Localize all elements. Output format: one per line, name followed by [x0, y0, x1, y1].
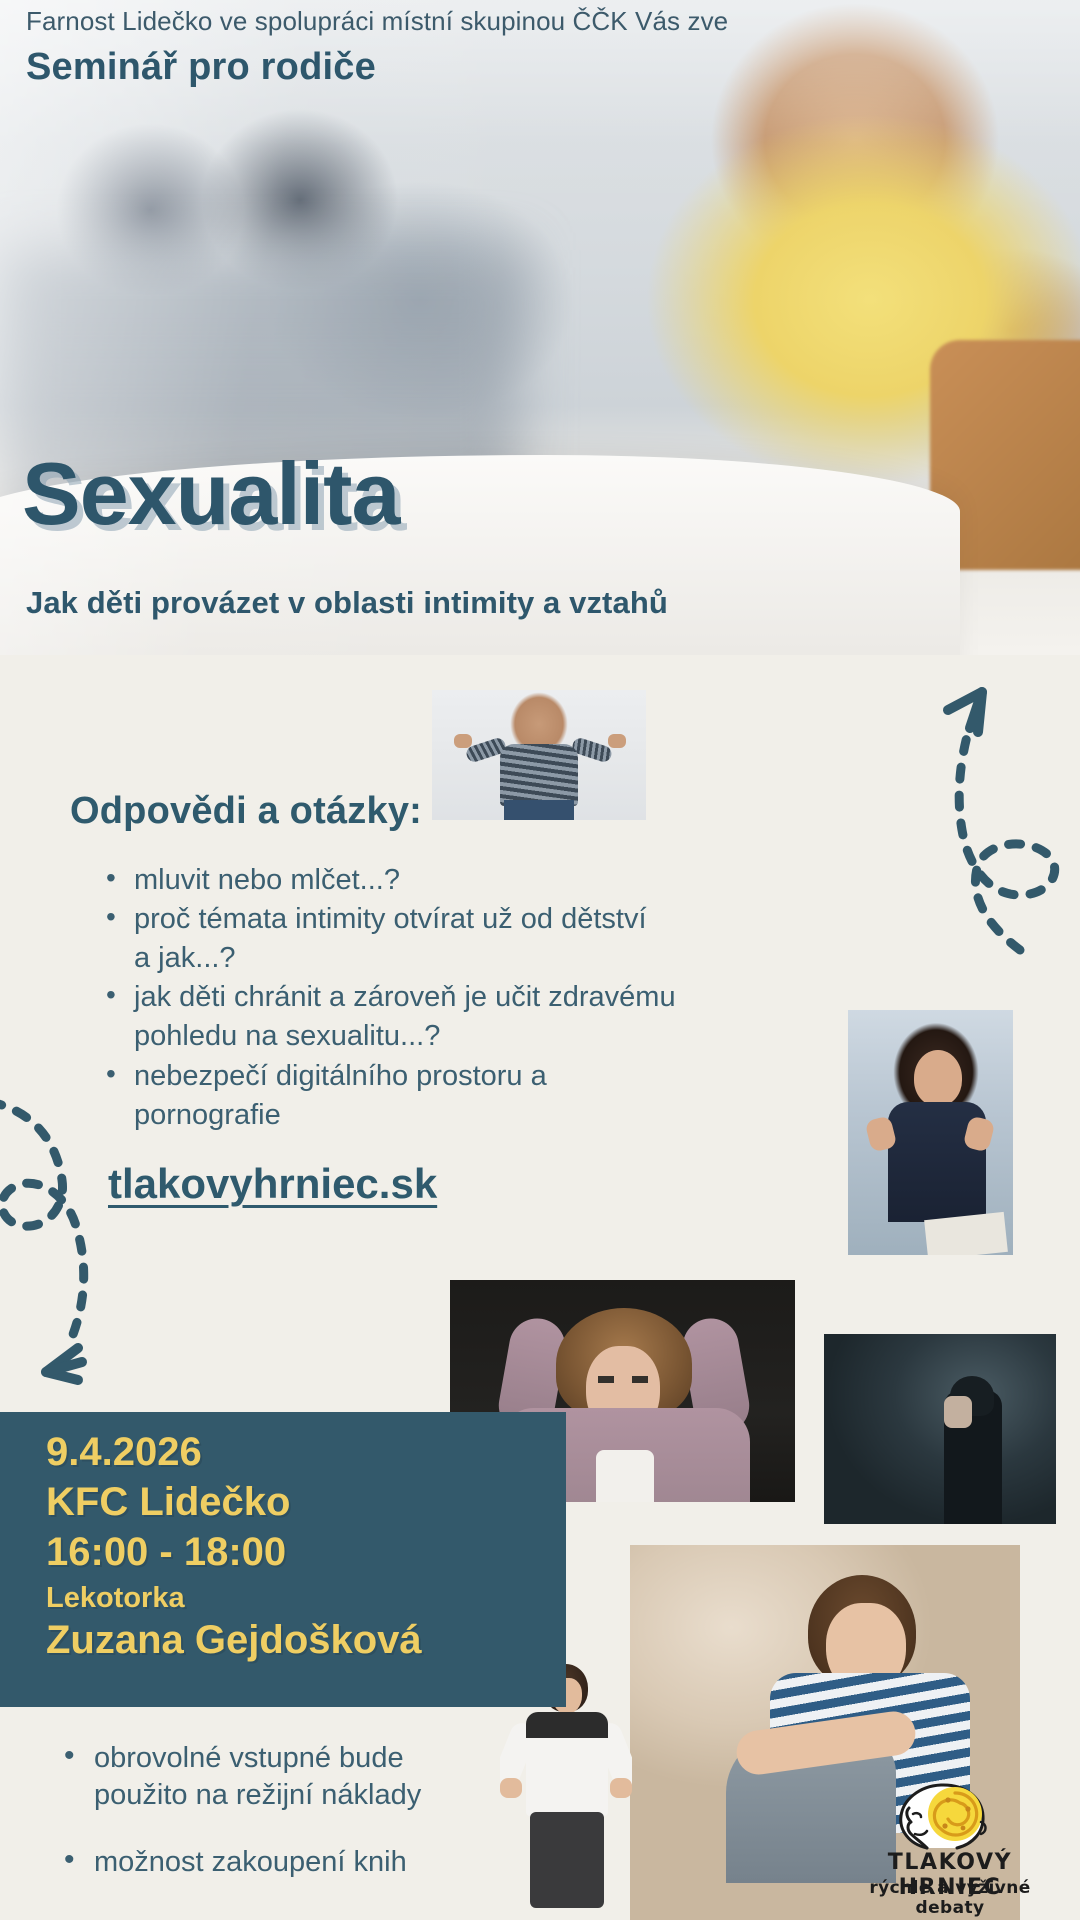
brand-logo: TLAKOVÝ HRNIEC rýchle a výživné debaty — [835, 1778, 1065, 1910]
list-item: proč témata intimity otvírat už od dětst… — [100, 901, 760, 938]
list-item-continuation: a jak...? — [100, 940, 760, 977]
poster-root: Farnost Lidečko ve spolupráci místní sku… — [0, 0, 1080, 1920]
event-place: KFC Lidečko — [46, 1480, 290, 1525]
speaker-role: Lekotorka — [46, 1582, 185, 1615]
qa-heading: Odpovědi a otázky: — [70, 790, 422, 833]
shrugging-man-photo — [432, 690, 646, 820]
event-date: 9.4.2026 — [46, 1430, 202, 1475]
list-item-continuation: pornografie — [100, 1097, 760, 1134]
woman-gesturing-photo — [848, 1010, 1013, 1255]
notes-list: obrovolné vstupné bude použito na režijn… — [58, 1740, 538, 1911]
dashed-curved-arrow-up-right-icon — [870, 650, 1080, 960]
page-title: Sexualita — [22, 450, 399, 538]
note-line-1: možnost zakoupení knih — [94, 1846, 407, 1878]
list-item: mluvit nebo mlčet...? — [100, 862, 760, 899]
website-link[interactable]: tlakovyhrniec.sk — [108, 1160, 437, 1208]
list-item: jak děti chránit a zároveň je učit zdrav… — [100, 979, 760, 1016]
hero-section: Farnost Lidečko ve spolupráci místní sku… — [0, 0, 1080, 655]
hero-light-overlay — [0, 0, 1080, 655]
organizer-line: Farnost Lidečko ve spolupráci místní sku… — [26, 6, 728, 37]
note-line-1: obrovolné vstupné bude — [94, 1742, 404, 1774]
hero-photo — [0, 0, 1080, 655]
list-item-continuation: pohledu na sexualitu...? — [100, 1018, 760, 1055]
logo-tagline: rýchle a výživné debaty — [835, 1878, 1065, 1918]
event-details-panel: 9.4.2026 KFC Lidečko 16:00 - 18:00 Lekot… — [0, 1412, 566, 1707]
list-item: možnost zakoupení knih — [58, 1844, 538, 1881]
event-type-heading: Seminář pro rodiče — [26, 46, 376, 89]
head-with-spiral-brain-icon — [835, 1778, 1065, 1854]
note-line-2: použito na režijní náklady — [94, 1779, 421, 1811]
person-in-dark-photo — [820, 1330, 1060, 1528]
speaker-name: Zuzana Gejdošková — [46, 1618, 422, 1663]
list-item: obrovolné vstupné bude použito na režijn… — [58, 1740, 538, 1814]
event-time: 16:00 - 18:00 — [46, 1530, 286, 1575]
qa-list: mluvit nebo mlčet...? proč témata intimi… — [100, 862, 760, 1136]
list-item: nebezpečí digitálního prostoru a — [100, 1058, 760, 1095]
page-subtitle: Jak děti provázet v oblasti intimity a v… — [26, 585, 668, 621]
